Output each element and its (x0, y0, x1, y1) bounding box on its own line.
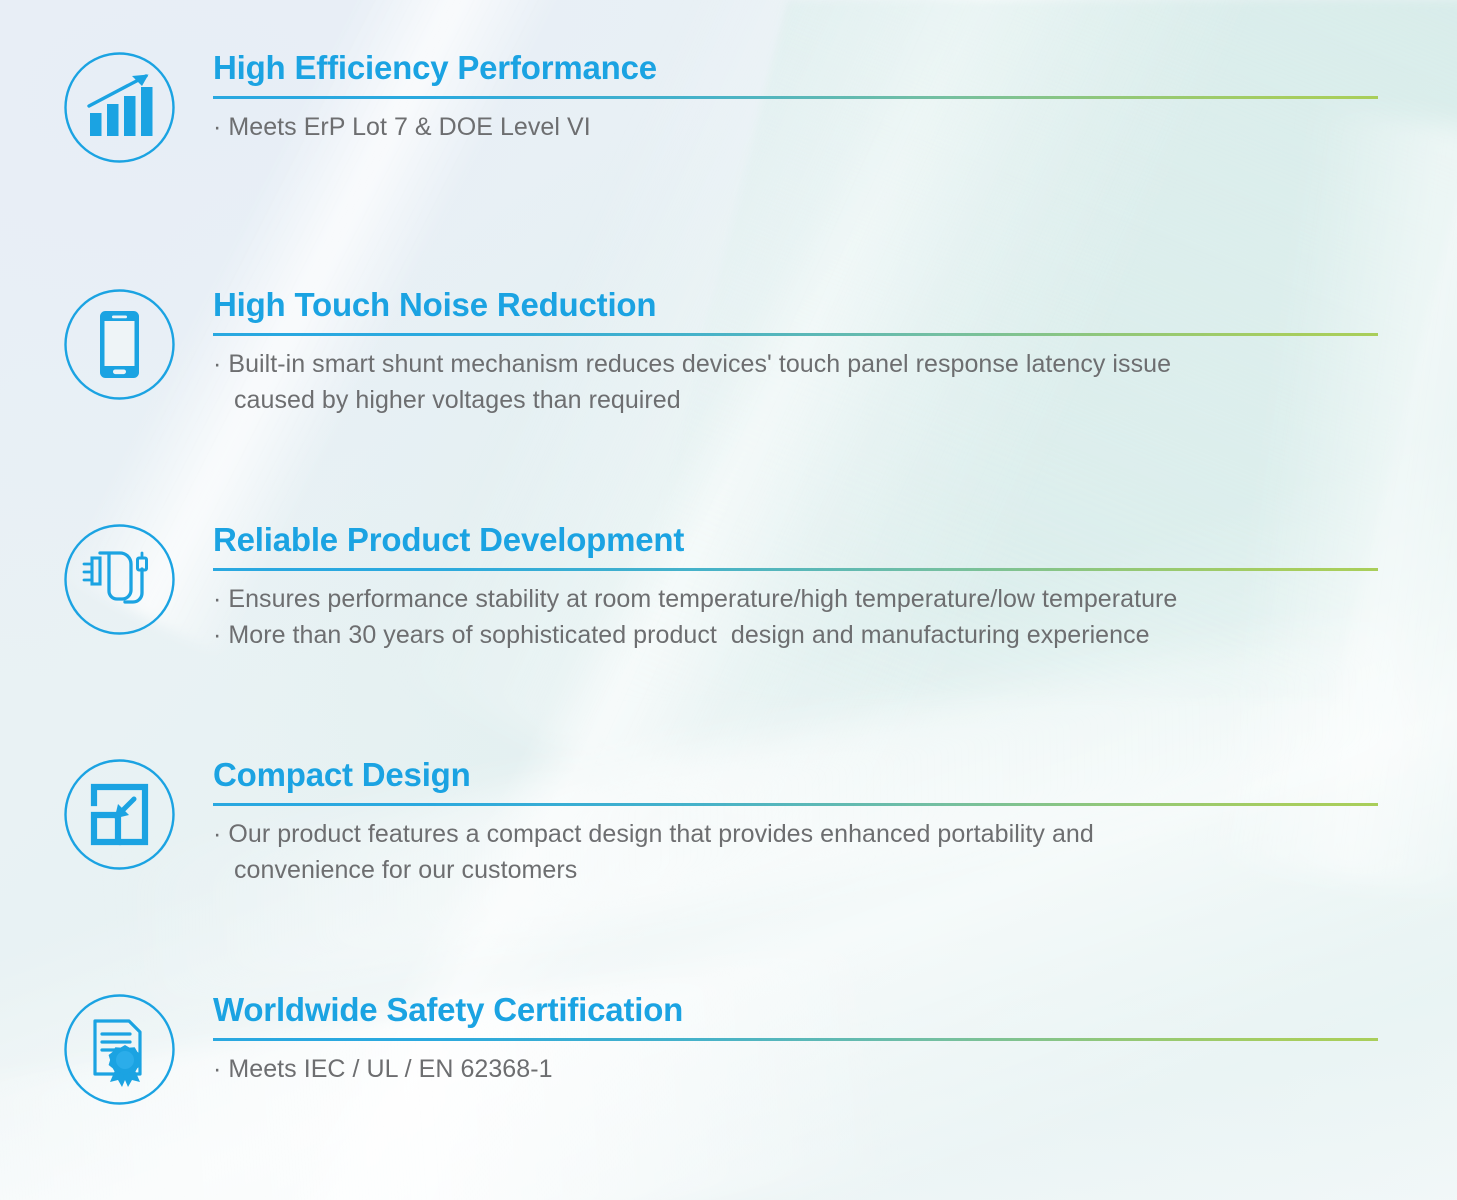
certificate-award-icon (62, 992, 177, 1107)
feature-divider (213, 96, 1378, 99)
feature-body: Reliable Product Development · Ensures p… (213, 522, 1378, 653)
feature-highlights-page: High Efficiency Performance · Meets ErP … (0, 0, 1457, 1200)
feature-title: Worldwide Safety Certification (213, 992, 1378, 1029)
feature-lines: · Ensures performance stability at room … (213, 581, 1378, 653)
feature-lines: · Our product features a compact design … (213, 816, 1378, 888)
feature-body: Worldwide Safety Certification · Meets I… (213, 992, 1378, 1087)
feature-line: · Ensures performance stability at room … (213, 581, 1378, 617)
feature-lines: · Meets ErP Lot 7 & DOE Level VI (213, 109, 1378, 145)
feature-body: Compact Design · Our product features a … (213, 757, 1378, 888)
feature-line: · More than 30 years of sophisticated pr… (213, 617, 1378, 653)
feature-lines: · Meets IEC / UL / EN 62368-1 (213, 1051, 1378, 1087)
feature-line: · Meets IEC / UL / EN 62368-1 (213, 1051, 1378, 1087)
feature-body: High Touch Noise Reduction · Built-in sm… (213, 287, 1378, 418)
feature-body: High Efficiency Performance · Meets ErP … (213, 50, 1378, 145)
feature-divider (213, 803, 1378, 806)
feature-line: · Meets ErP Lot 7 & DOE Level VI (213, 109, 1378, 145)
bar-chart-growth-icon (62, 50, 177, 165)
feature-divider (213, 333, 1378, 336)
smartphone-icon (62, 287, 177, 402)
feature-line: · Our product features a compact design … (213, 816, 1378, 888)
power-adapter-icon (62, 522, 177, 637)
feature-line: · Built-in smart shunt mechanism reduces… (213, 346, 1378, 418)
compact-resize-icon (62, 757, 177, 872)
feature-title: High Touch Noise Reduction (213, 287, 1378, 324)
feature-lines: · Built-in smart shunt mechanism reduces… (213, 346, 1378, 418)
feature-title: High Efficiency Performance (213, 50, 1378, 87)
feature-divider (213, 568, 1378, 571)
feature-title: Reliable Product Development (213, 522, 1378, 559)
feature-title: Compact Design (213, 757, 1378, 794)
feature-divider (213, 1038, 1378, 1041)
